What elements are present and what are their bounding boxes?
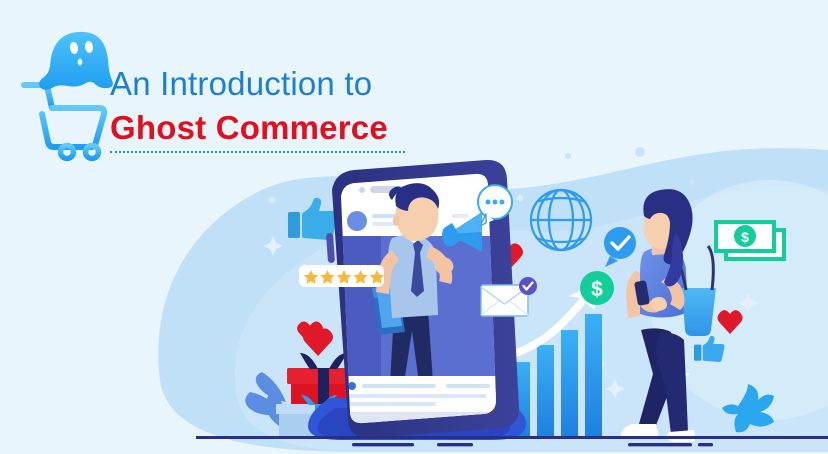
globe-icon — [531, 190, 591, 250]
ground-line — [196, 436, 828, 439]
svg-text:$: $ — [741, 229, 749, 245]
poster-canvas: $ $ — [0, 0, 828, 454]
heading-line-1: An Introduction to — [110, 64, 530, 104]
heading-line-2: Ghost Commerce — [110, 108, 530, 148]
check-badge-icon — [519, 277, 537, 295]
banknotes-icon: $ — [714, 220, 786, 261]
star-rating-card — [299, 265, 384, 287]
dollar-coin-icon: $ — [580, 271, 614, 305]
heading-underline — [110, 151, 405, 153]
svg-text:$: $ — [591, 278, 603, 301]
heading-block: An Introduction to Ghost Commerce — [110, 64, 530, 153]
